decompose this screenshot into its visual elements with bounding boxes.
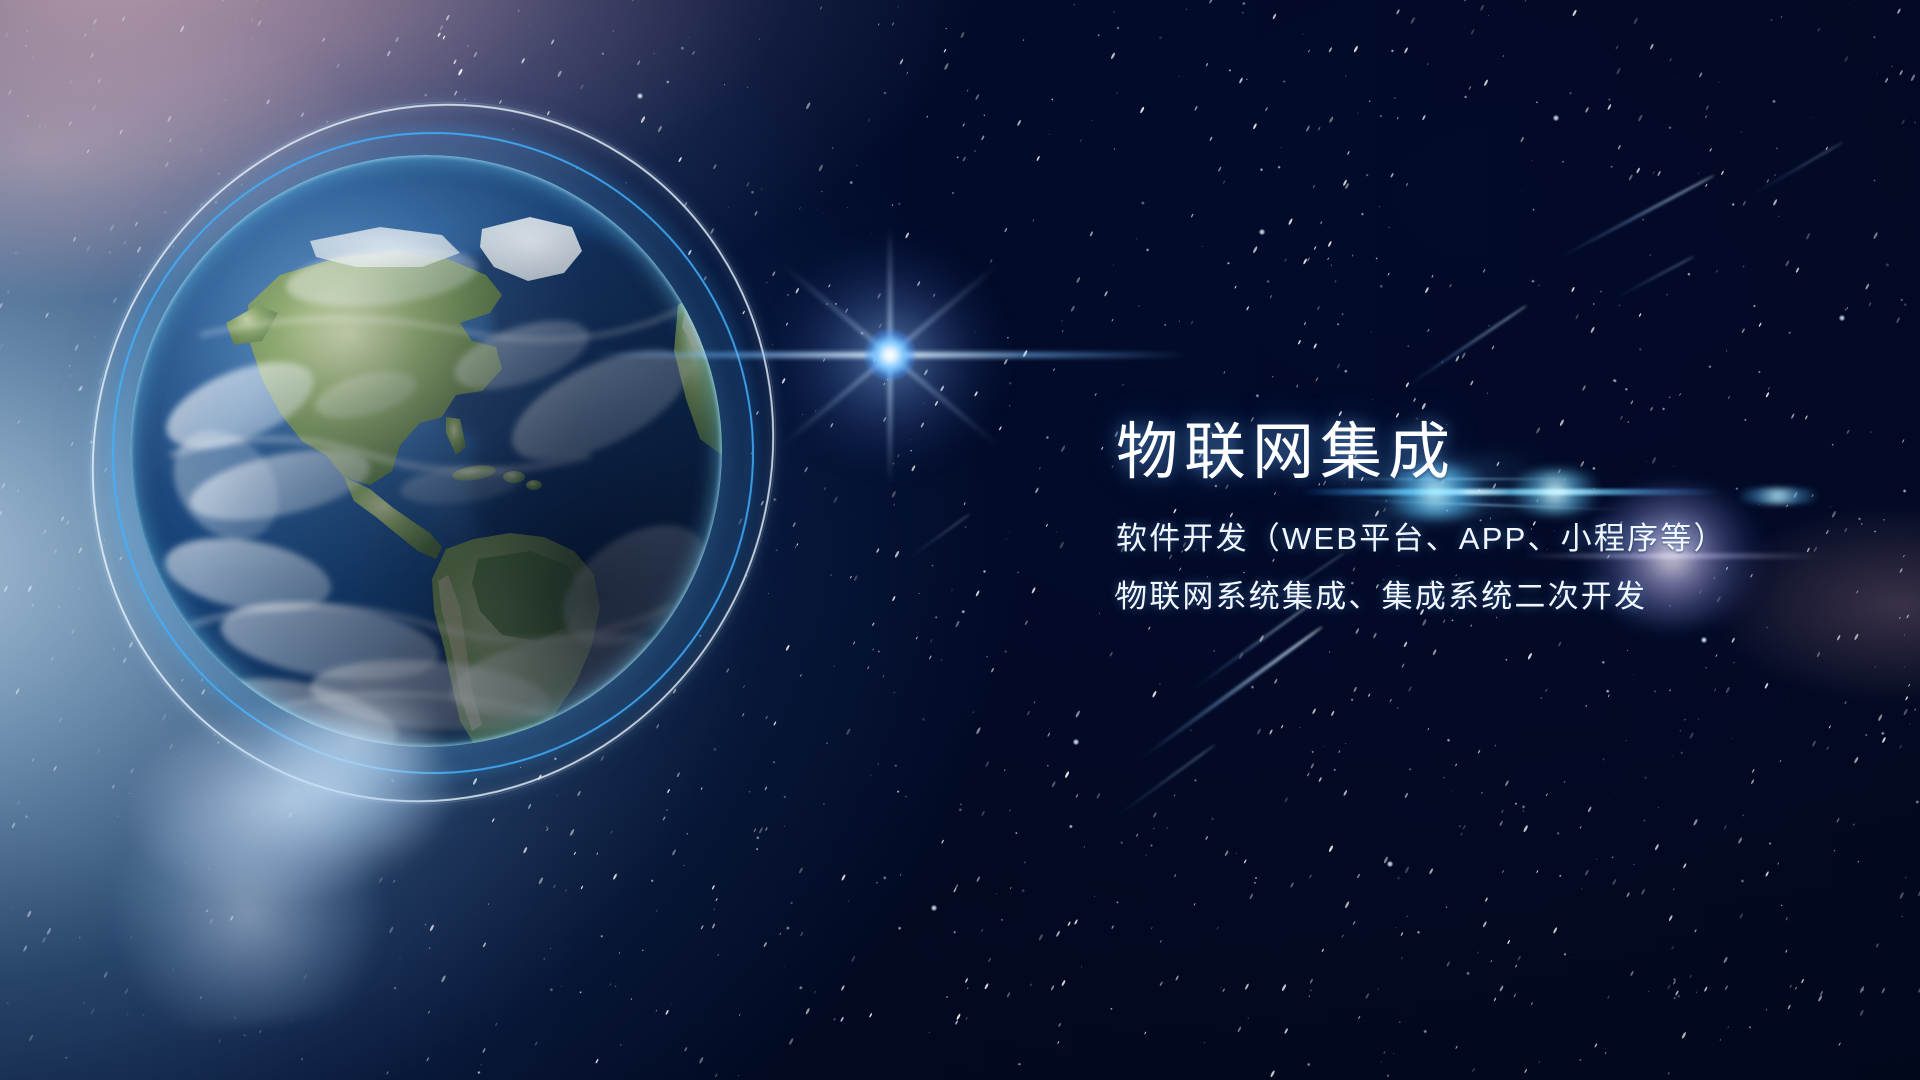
earth-globe xyxy=(130,155,722,747)
earth-sphere xyxy=(130,155,722,747)
meteor-streak xyxy=(1555,174,1715,261)
meteor-streak xyxy=(1109,744,1216,822)
meteor-streak xyxy=(1401,304,1527,390)
hero-text-block: 物联网集成 软件开发（WEB平台、APP、小程序等） 物联网系统集成、集成系统二… xyxy=(1116,416,1816,620)
lens-flare-beam-diag1 xyxy=(781,263,998,446)
lens-flare-halo xyxy=(775,240,1005,470)
lens-flare-beam-diag2 xyxy=(781,263,998,446)
hero-banner: 物联网集成 软件开发（WEB平台、APP、小程序等） 物联网系统集成、集成系统二… xyxy=(0,0,1920,1080)
meteor-streak xyxy=(1609,255,1695,302)
meteor-streak xyxy=(1135,625,1323,763)
hero-subtitle-line-1: 软件开发（WEB平台、APP、小程序等） xyxy=(1116,516,1816,562)
page-title: 物联网集成 xyxy=(1116,416,1816,490)
lens-flare-beam-v xyxy=(888,225,892,485)
lens-flare-core xyxy=(864,329,916,381)
hero-subtitle-line-2: 物联网系统集成、集成系统二次开发 xyxy=(1116,574,1816,620)
meteor-streak xyxy=(1747,141,1843,198)
meteor-streak xyxy=(904,513,970,561)
